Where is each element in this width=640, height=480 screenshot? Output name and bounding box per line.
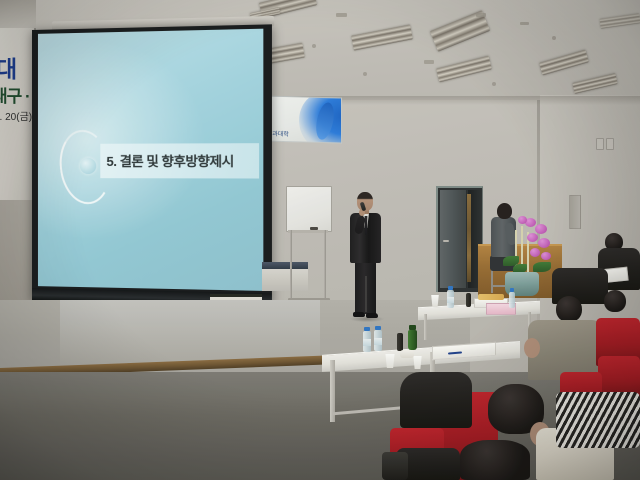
flower-arrangement bbox=[497, 216, 555, 296]
audience-head bbox=[604, 290, 626, 312]
bottle-cap bbox=[448, 286, 453, 290]
slide-surface: 5. 결론 및 향후방향제시 bbox=[38, 29, 263, 291]
left-pillar bbox=[0, 0, 36, 30]
ceiling-fixture-dot bbox=[312, 44, 316, 48]
whiteboard bbox=[286, 186, 330, 310]
whiteboard-leg bbox=[290, 230, 292, 300]
audience-head bbox=[556, 296, 582, 322]
poster-line-1: 대 bbox=[0, 50, 16, 84]
slide-title-text: 5. 결론 및 향후방향제시 bbox=[106, 150, 259, 170]
door-hinge bbox=[467, 194, 471, 282]
projection-screen: 5. 결론 및 향후방향제시 bbox=[32, 24, 272, 305]
ceiling-vent bbox=[424, 60, 434, 64]
wall-outlet bbox=[606, 138, 614, 150]
ceiling-light bbox=[572, 73, 617, 94]
orchid-petal bbox=[518, 216, 527, 224]
presenter bbox=[344, 192, 386, 326]
dark-bottle bbox=[466, 293, 471, 307]
orchid-petal bbox=[535, 224, 547, 234]
whiteboard-marker bbox=[310, 227, 318, 230]
presenter-shoe-left bbox=[353, 312, 365, 317]
orchid-petal bbox=[538, 238, 550, 248]
photo-scene: 대 대구 · 1. 20(금) 1 표회 표회 대학교 한의과대학 5. 결론 … bbox=[0, 0, 640, 480]
orchid-petal bbox=[530, 248, 540, 257]
ceiling-vent bbox=[336, 13, 347, 17]
bottle-label bbox=[447, 297, 454, 303]
whiteboard-panel bbox=[286, 186, 332, 232]
ceiling-fixture-dot bbox=[363, 72, 367, 76]
ceiling-fixture-dot bbox=[492, 82, 496, 86]
wall-niche bbox=[569, 195, 581, 229]
green-bottle bbox=[408, 330, 417, 350]
snack-items bbox=[478, 294, 504, 300]
door-handle[interactable] bbox=[443, 240, 449, 242]
ceiling-vent bbox=[476, 13, 486, 17]
whiteboard-leg bbox=[324, 230, 326, 300]
ceiling-light bbox=[436, 56, 492, 83]
left-poster: 대 대구 · 1. 20(금) 1 bbox=[0, 28, 36, 206]
orchid-petal bbox=[541, 252, 551, 260]
poster-line-3: 1. 20(금) 1 bbox=[0, 108, 36, 123]
door-panel[interactable] bbox=[440, 190, 467, 288]
crumpled-napkin bbox=[400, 350, 414, 358]
bottle-label bbox=[374, 338, 382, 345]
poster-line-2: 대구 · bbox=[0, 82, 30, 107]
bottle-label bbox=[363, 339, 371, 346]
ceiling-light bbox=[351, 24, 413, 50]
audience-head bbox=[460, 440, 530, 480]
presenter-shoe-right bbox=[366, 313, 378, 318]
foliage bbox=[533, 262, 551, 272]
audience-coat bbox=[400, 372, 472, 428]
ceiling-vent bbox=[520, 22, 529, 25]
slide-dot-icon bbox=[80, 158, 96, 174]
whiteboard-tray bbox=[288, 230, 328, 233]
dark-bottle bbox=[397, 333, 403, 351]
bottle-cap bbox=[364, 327, 370, 331]
green-bottle-cap bbox=[409, 325, 416, 330]
bottle-cap bbox=[510, 288, 514, 292]
orchid-petal bbox=[527, 233, 538, 242]
ceiling-fixture-dot bbox=[552, 36, 556, 40]
table-leg bbox=[424, 314, 427, 340]
audience-scarf bbox=[556, 392, 640, 448]
ceiling-light bbox=[599, 13, 640, 28]
bottle-cap bbox=[375, 326, 381, 330]
right-wall bbox=[540, 95, 640, 345]
ceiling-light bbox=[539, 50, 589, 76]
presenter-leg-gap bbox=[365, 276, 367, 312]
wall-outlet bbox=[596, 138, 604, 150]
audience-hand bbox=[524, 338, 540, 358]
foreground-bag bbox=[382, 452, 408, 480]
water-bottle bbox=[509, 292, 515, 308]
doorway[interactable] bbox=[436, 186, 483, 292]
